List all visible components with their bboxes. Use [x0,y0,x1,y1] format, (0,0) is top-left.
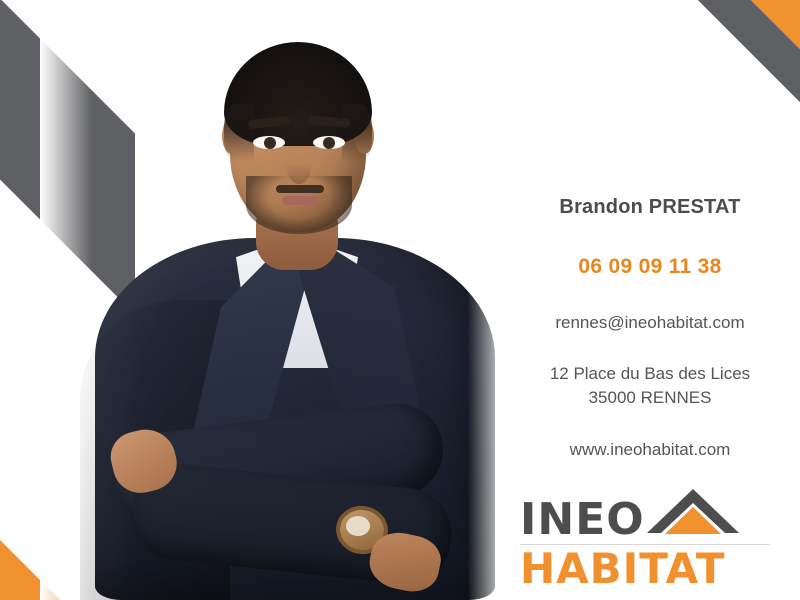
logo-divider [520,544,770,545]
logo-wordmark-ineo: INEO [520,500,645,540]
contact-website[interactable]: www.ineohabitat.com [500,440,800,460]
contact-phone[interactable]: 06 09 09 11 38 [500,255,800,279]
address-line-1: 12 Place du Bas des Lices [550,364,750,383]
logo-top-row: INEO [520,488,770,540]
portrait-photo [40,0,510,600]
contact-email[interactable]: rennes@ineohabitat.com [500,313,800,333]
roof-chevron-icon [647,487,739,542]
contact-details: Brandon PRESTAT 06 09 09 11 38 rennes@in… [500,196,800,460]
orange-wedge-top-right [571,0,800,217]
address-line-2: 35000 RENNES [589,388,712,407]
photo-edge-fade [40,0,510,600]
contact-address: 12 Place du Bas des Lices 35000 RENNES [500,362,800,410]
business-card: Brandon PRESTAT 06 09 09 11 38 rennes@in… [0,0,800,600]
logo-wordmark-habitat: HABITAT [520,546,770,592]
company-logo[interactable]: INEO HABITAT [520,488,770,590]
contact-name: Brandon PRESTAT [500,196,800,219]
